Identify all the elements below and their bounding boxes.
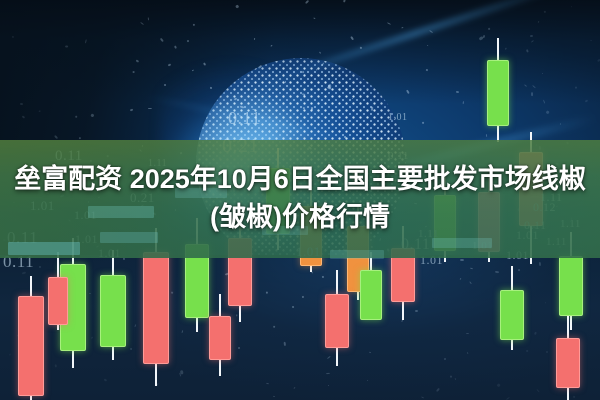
candlestick (325, 270, 349, 366)
particle (75, 115, 77, 117)
particle (301, 295, 304, 298)
candlestick (209, 294, 231, 376)
particle (530, 35, 533, 37)
candlestick-body (143, 252, 169, 364)
particle (546, 351, 548, 353)
candlestick-body (487, 60, 509, 126)
band-accent-bar (8, 242, 80, 255)
candlestick-body (18, 296, 44, 396)
candlestick-body (556, 338, 580, 388)
candlestick-body (48, 277, 68, 325)
candlestick-body (100, 275, 126, 347)
candlestick-body (360, 270, 382, 320)
candlestick (556, 316, 580, 400)
particle (371, 106, 373, 110)
candlestick-body (500, 290, 524, 340)
particle (531, 92, 533, 96)
particle (482, 35, 485, 38)
candlestick-body (559, 256, 583, 316)
particle (329, 84, 332, 88)
particle (456, 91, 459, 93)
candlestick (487, 38, 509, 142)
banner-image: 0.110.210.111.010.110.111.011.010.211.01… (0, 0, 600, 400)
banner-title-line-1: 垒富配资 2025年10月6日全国主要批发市场线椒 (0, 160, 600, 198)
particle (89, 293, 91, 294)
particle (284, 341, 286, 345)
candlestick (500, 266, 524, 350)
particle (209, 86, 212, 89)
band-accent-bar (330, 250, 384, 259)
candlestick (100, 250, 126, 360)
particle (103, 378, 106, 381)
particle (542, 73, 543, 75)
particle (147, 17, 149, 20)
particle (20, 102, 23, 104)
particle (311, 107, 313, 110)
candlestick (18, 276, 44, 400)
candlestick (360, 252, 382, 320)
candlestick-body (209, 316, 231, 360)
candlestick-body (325, 294, 349, 348)
particle (38, 266, 41, 268)
banner-title-line-2: (皱椒)价格行情 (0, 198, 600, 236)
band-accent-bar (432, 238, 492, 248)
banner-title-block: 垒富配资 2025年10月6日全国主要批发市场线椒 (皱椒)价格行情 (0, 160, 600, 236)
particle (460, 259, 464, 261)
candlestick (48, 252, 68, 330)
